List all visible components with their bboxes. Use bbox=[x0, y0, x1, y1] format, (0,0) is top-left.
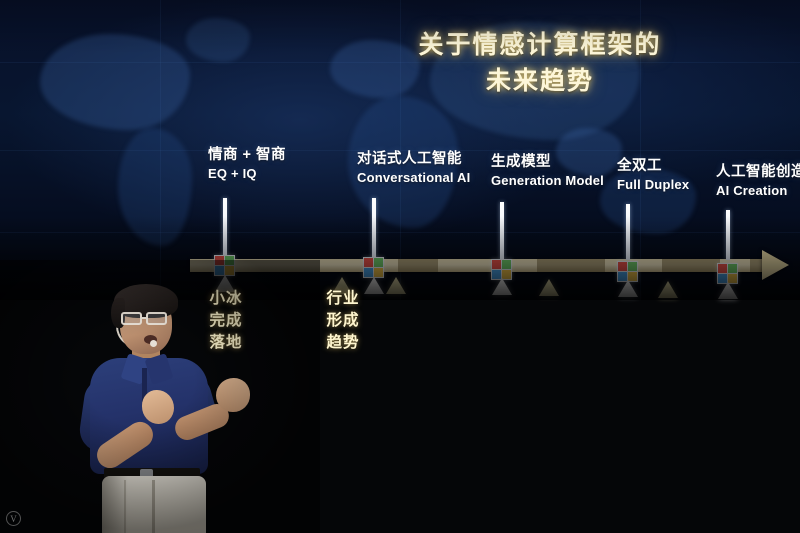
timeline-bar-shade-3 bbox=[662, 259, 720, 272]
timeline-node-marker-5[interactable] bbox=[717, 263, 738, 284]
timeline-label-2: 对话式人工智能 Conversational AI bbox=[357, 150, 470, 186]
marker-quadrant-green bbox=[374, 258, 383, 267]
timeline-triangle-6 bbox=[539, 279, 559, 296]
headset-mic-capsule bbox=[150, 340, 157, 347]
timeline-triangle-7 bbox=[618, 280, 638, 297]
timeline-label-3-en: Generation Model bbox=[491, 173, 604, 189]
glasses-left-lens-icon bbox=[121, 312, 142, 325]
timeline-label-5-cn: 人工智能创造 bbox=[716, 163, 800, 181]
timeline-bar-shade-2 bbox=[537, 259, 605, 272]
timeline-label-1-en: EQ + IQ bbox=[208, 166, 286, 182]
marker-quadrant-red bbox=[618, 262, 627, 271]
marker-quadrant-yellow bbox=[225, 266, 234, 275]
presenter-trousers-shadow bbox=[102, 476, 128, 533]
timeline-label-3-cn: 生成模型 bbox=[491, 153, 604, 171]
projected-slide: 关于情感计算框架的 未来趋势 bbox=[0, 0, 800, 300]
timeline-label-1-cn: 情商 + 智商 bbox=[208, 146, 286, 164]
timeline-below-label-2: 行业 形成 趋势 bbox=[312, 288, 374, 354]
timeline-below-label-2-line-1: 行业 bbox=[312, 288, 374, 310]
timeline-node-marker-1[interactable] bbox=[214, 255, 235, 276]
timeline-below-label-2-line-3: 趋势 bbox=[312, 332, 374, 354]
timeline-node-marker-3[interactable] bbox=[491, 259, 512, 280]
timeline-triangle-9 bbox=[718, 282, 738, 299]
timeline-stem-2 bbox=[372, 198, 376, 260]
timeline-node-marker-4[interactable] bbox=[617, 261, 638, 282]
marker-quadrant-red bbox=[492, 260, 501, 269]
timeline-arrow-icon bbox=[762, 250, 789, 280]
marker-quadrant-green bbox=[628, 262, 637, 271]
marker-quadrant-green bbox=[728, 264, 737, 273]
timeline-stem-4 bbox=[626, 204, 630, 260]
timeline-triangle-8 bbox=[658, 281, 678, 298]
timeline-label-1: 情商 + 智商 EQ + IQ bbox=[208, 146, 286, 182]
timeline-stem-1 bbox=[223, 198, 227, 260]
marker-quadrant-yellow bbox=[374, 268, 383, 277]
glasses-right-lens-icon bbox=[146, 312, 167, 325]
timeline-bar-shade-1 bbox=[398, 259, 438, 272]
timeline-label-3: 生成模型 Generation Model bbox=[491, 153, 604, 189]
marker-quadrant-green bbox=[502, 260, 511, 269]
timeline-triangle-4 bbox=[386, 277, 406, 294]
timeline: 情商 + 智商 EQ + IQ 对话式人工智能 Conversational A… bbox=[0, 0, 800, 300]
marker-quadrant-blue bbox=[215, 266, 224, 275]
presenter-figure bbox=[58, 282, 268, 533]
timeline-label-5-en: AI Creation bbox=[716, 183, 800, 199]
timeline-label-2-cn: 对话式人工智能 bbox=[357, 150, 470, 168]
timeline-label-2-en: Conversational AI bbox=[357, 170, 470, 186]
marker-quadrant-green bbox=[225, 256, 234, 265]
timeline-below-label-2-line-2: 形成 bbox=[312, 310, 374, 332]
watermark-icon: V bbox=[6, 511, 21, 526]
timeline-label-4: 全双工 Full Duplex bbox=[617, 157, 689, 193]
timeline-bar bbox=[190, 259, 765, 272]
timeline-node-marker-2[interactable] bbox=[363, 257, 384, 278]
marker-quadrant-blue bbox=[364, 268, 373, 277]
presentation-photo: 关于情感计算框架的 未来趋势 bbox=[0, 0, 800, 533]
timeline-label-5: 人工智能创造 AI Creation bbox=[716, 163, 800, 199]
presenter-hand-left bbox=[142, 390, 174, 424]
marker-quadrant-red bbox=[215, 256, 224, 265]
timeline-label-4-en: Full Duplex bbox=[617, 177, 689, 193]
timeline-triangle-5 bbox=[492, 278, 512, 295]
watermark-letter: V bbox=[10, 514, 17, 524]
presenter-hand-right bbox=[216, 378, 250, 412]
timeline-label-4-cn: 全双工 bbox=[617, 157, 689, 175]
presenter-trousers-seam bbox=[152, 480, 155, 533]
marker-quadrant-red bbox=[718, 264, 727, 273]
marker-quadrant-red bbox=[364, 258, 373, 267]
glasses-bridge bbox=[142, 317, 147, 319]
timeline-stem-5 bbox=[726, 210, 730, 260]
timeline-stem-3 bbox=[500, 202, 504, 260]
